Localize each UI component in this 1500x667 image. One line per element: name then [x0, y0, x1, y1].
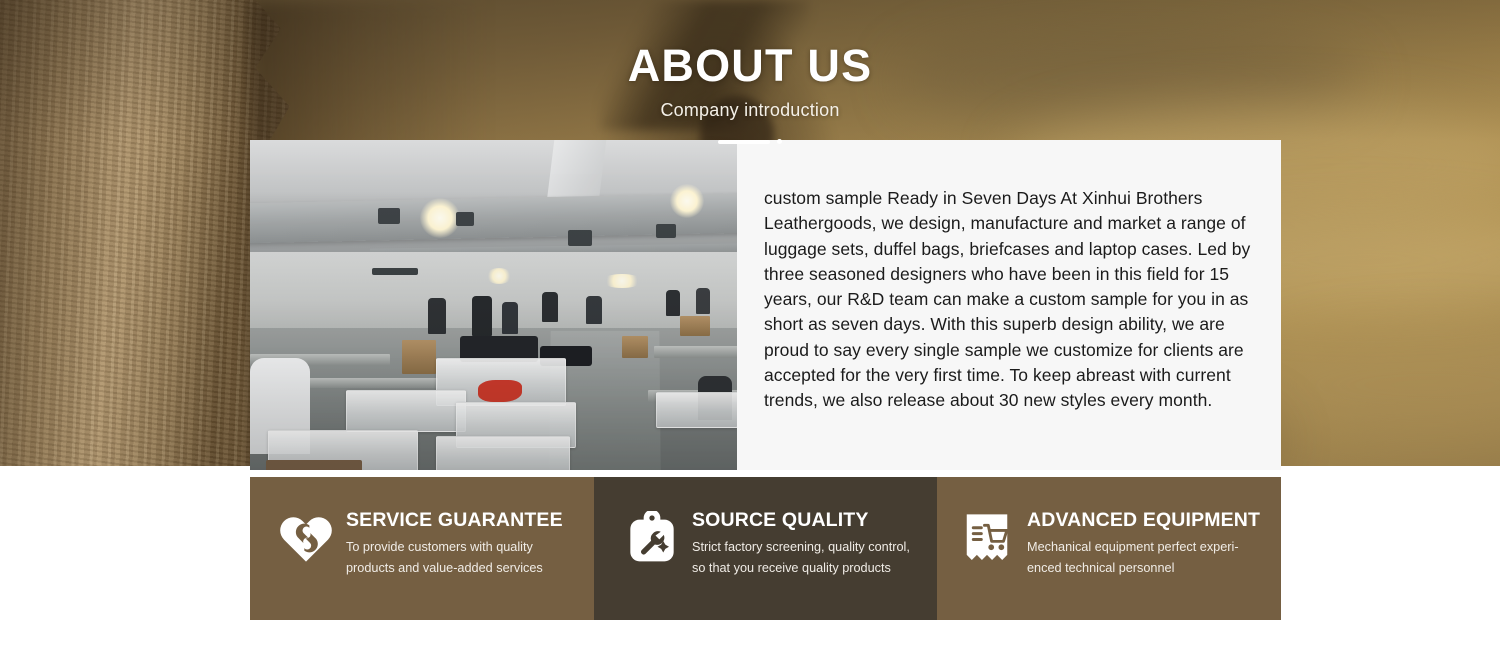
feature-card-title: SOURCE QUALITY — [692, 509, 925, 532]
about-text-panel: custom sample Ready in Seven Days At Xin… — [737, 140, 1281, 470]
feature-card-desc: Mechanical equipment perfect experi-ence… — [1027, 537, 1269, 579]
about-body-text: custom sample Ready in Seven Days At Xin… — [764, 186, 1259, 414]
clipboard-wrench-icon — [624, 511, 680, 567]
factory-photo — [250, 140, 737, 470]
feature-card-desc: To provide customers with quality produc… — [346, 537, 582, 579]
hero-heading-group: ABOUT US Company introduction — [0, 38, 1500, 150]
feature-card-body: ADVANCED EQUIPMENT Mechanical equipment … — [1027, 509, 1281, 579]
page-title: ABOUT US — [0, 38, 1500, 94]
feature-card-body: SOURCE QUALITY Strict factory screening,… — [692, 509, 937, 579]
divider-bar — [718, 140, 770, 144]
heart-link-icon — [278, 511, 334, 567]
about-us-page: ABOUT US Company introduction — [0, 0, 1500, 667]
feature-card-advanced-equipment[interactable]: ADVANCED EQUIPMENT Mechanical equipment … — [937, 477, 1281, 620]
divider-dot — [777, 139, 782, 144]
photo-shading — [250, 140, 737, 470]
feature-card-desc: Strict factory screening, quality contro… — [692, 537, 925, 579]
divider-bar-dot-icon — [715, 133, 785, 150]
feature-cards: SERVICE GUARANTEE To provide customers w… — [250, 477, 1281, 620]
feature-card-title: ADVANCED EQUIPMENT — [1027, 509, 1269, 532]
feature-card-service-guarantee[interactable]: SERVICE GUARANTEE To provide customers w… — [250, 477, 594, 620]
feature-card-title: SERVICE GUARANTEE — [346, 509, 582, 532]
feature-card-source-quality[interactable]: SOURCE QUALITY Strict factory screening,… — [594, 477, 937, 620]
receipt-cart-icon — [959, 511, 1015, 567]
page-subtitle: Company introduction — [0, 100, 1500, 121]
feature-card-body: SERVICE GUARANTEE To provide customers w… — [346, 509, 594, 579]
